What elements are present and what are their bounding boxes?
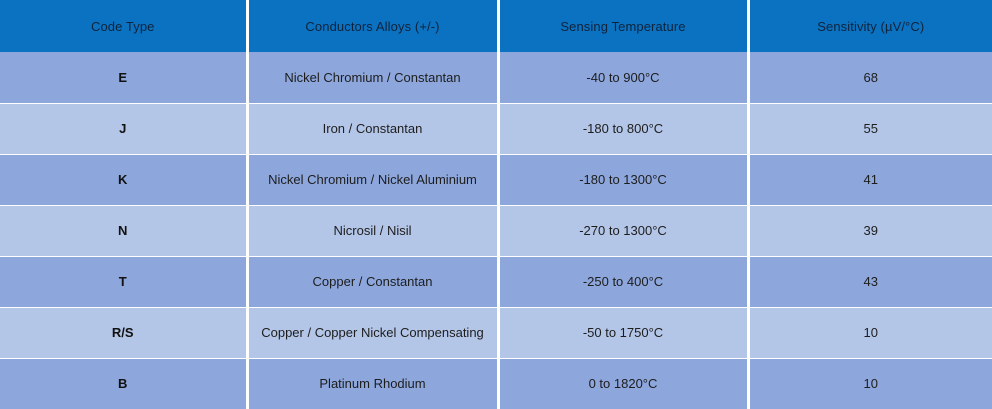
thermocouple-table: Code Type Conductors Alloys (+/-) Sensin…	[0, 0, 992, 409]
table-row: J Iron / Constantan -180 to 800°C 55	[0, 103, 992, 154]
cell-temperature: -180 to 800°C	[498, 103, 748, 154]
table-row: R/S Copper / Copper Nickel Compensating …	[0, 307, 992, 358]
thermocouple-table-container: Code Type Conductors Alloys (+/-) Sensin…	[0, 0, 992, 409]
cell-sensitivity: 43	[748, 256, 992, 307]
cell-alloys: Iron / Constantan	[247, 103, 498, 154]
cell-code-type: K	[0, 154, 247, 205]
table-body: E Nickel Chromium / Constantan -40 to 90…	[0, 52, 992, 409]
cell-sensitivity: 10	[748, 307, 992, 358]
column-header-alloys: Conductors Alloys (+/-)	[247, 0, 498, 52]
cell-alloys: Platinum Rhodium	[247, 358, 498, 409]
table-row: N Nicrosil / Nisil -270 to 1300°C 39	[0, 205, 992, 256]
cell-alloys: Copper / Copper Nickel Compensating	[247, 307, 498, 358]
cell-sensitivity: 10	[748, 358, 992, 409]
cell-temperature: -270 to 1300°C	[498, 205, 748, 256]
column-header-code-type: Code Type	[0, 0, 247, 52]
table-header-row: Code Type Conductors Alloys (+/-) Sensin…	[0, 0, 992, 52]
cell-code-type: B	[0, 358, 247, 409]
table-header: Code Type Conductors Alloys (+/-) Sensin…	[0, 0, 992, 52]
cell-temperature: 0 to 1820°C	[498, 358, 748, 409]
cell-temperature: -250 to 400°C	[498, 256, 748, 307]
cell-temperature: -40 to 900°C	[498, 52, 748, 103]
cell-temperature: -180 to 1300°C	[498, 154, 748, 205]
cell-sensitivity: 41	[748, 154, 992, 205]
column-header-sensitivity: Sensitivity (µV/°C)	[748, 0, 992, 52]
column-header-temperature: Sensing Temperature	[498, 0, 748, 52]
cell-code-type: R/S	[0, 307, 247, 358]
cell-sensitivity: 39	[748, 205, 992, 256]
table-row: K Nickel Chromium / Nickel Aluminium -18…	[0, 154, 992, 205]
cell-sensitivity: 68	[748, 52, 992, 103]
cell-code-type: N	[0, 205, 247, 256]
cell-alloys: Copper / Constantan	[247, 256, 498, 307]
cell-alloys: Nickel Chromium / Constantan	[247, 52, 498, 103]
cell-alloys: Nicrosil / Nisil	[247, 205, 498, 256]
table-row: E Nickel Chromium / Constantan -40 to 90…	[0, 52, 992, 103]
table-row: B Platinum Rhodium 0 to 1820°C 10	[0, 358, 992, 409]
cell-temperature: -50 to 1750°C	[498, 307, 748, 358]
cell-code-type: E	[0, 52, 247, 103]
cell-sensitivity: 55	[748, 103, 992, 154]
table-row: T Copper / Constantan -250 to 400°C 43	[0, 256, 992, 307]
cell-code-type: T	[0, 256, 247, 307]
cell-alloys: Nickel Chromium / Nickel Aluminium	[247, 154, 498, 205]
cell-code-type: J	[0, 103, 247, 154]
